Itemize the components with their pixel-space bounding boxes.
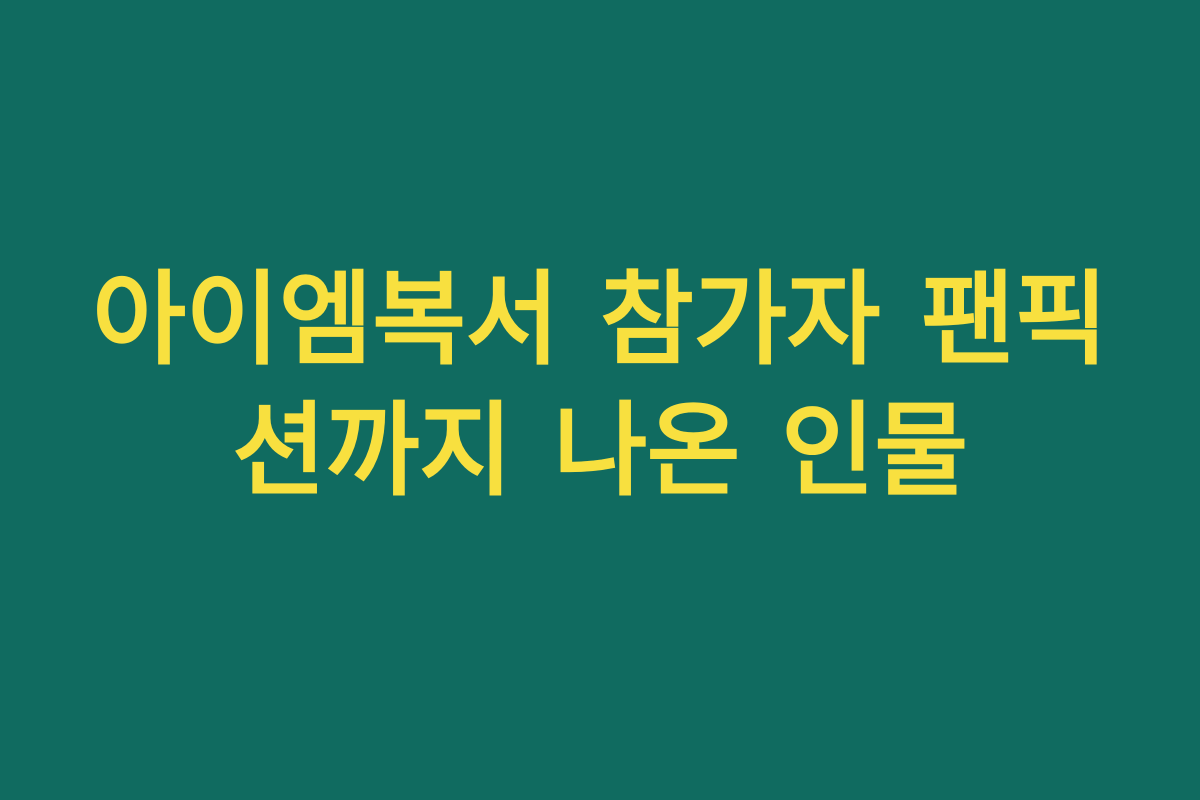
- headline-text: 아이엠복서 참가자 팬픽 션까지 나온 인물: [40, 255, 1160, 517]
- thumbnail-canvas: 아이엠복서 참가자 팬픽 션까지 나온 인물: [0, 0, 1200, 800]
- headline-line-1: 아이엠복서 참가자 팬픽: [40, 255, 1160, 386]
- headline-line-2: 션까지 나온 인물: [40, 386, 1160, 517]
